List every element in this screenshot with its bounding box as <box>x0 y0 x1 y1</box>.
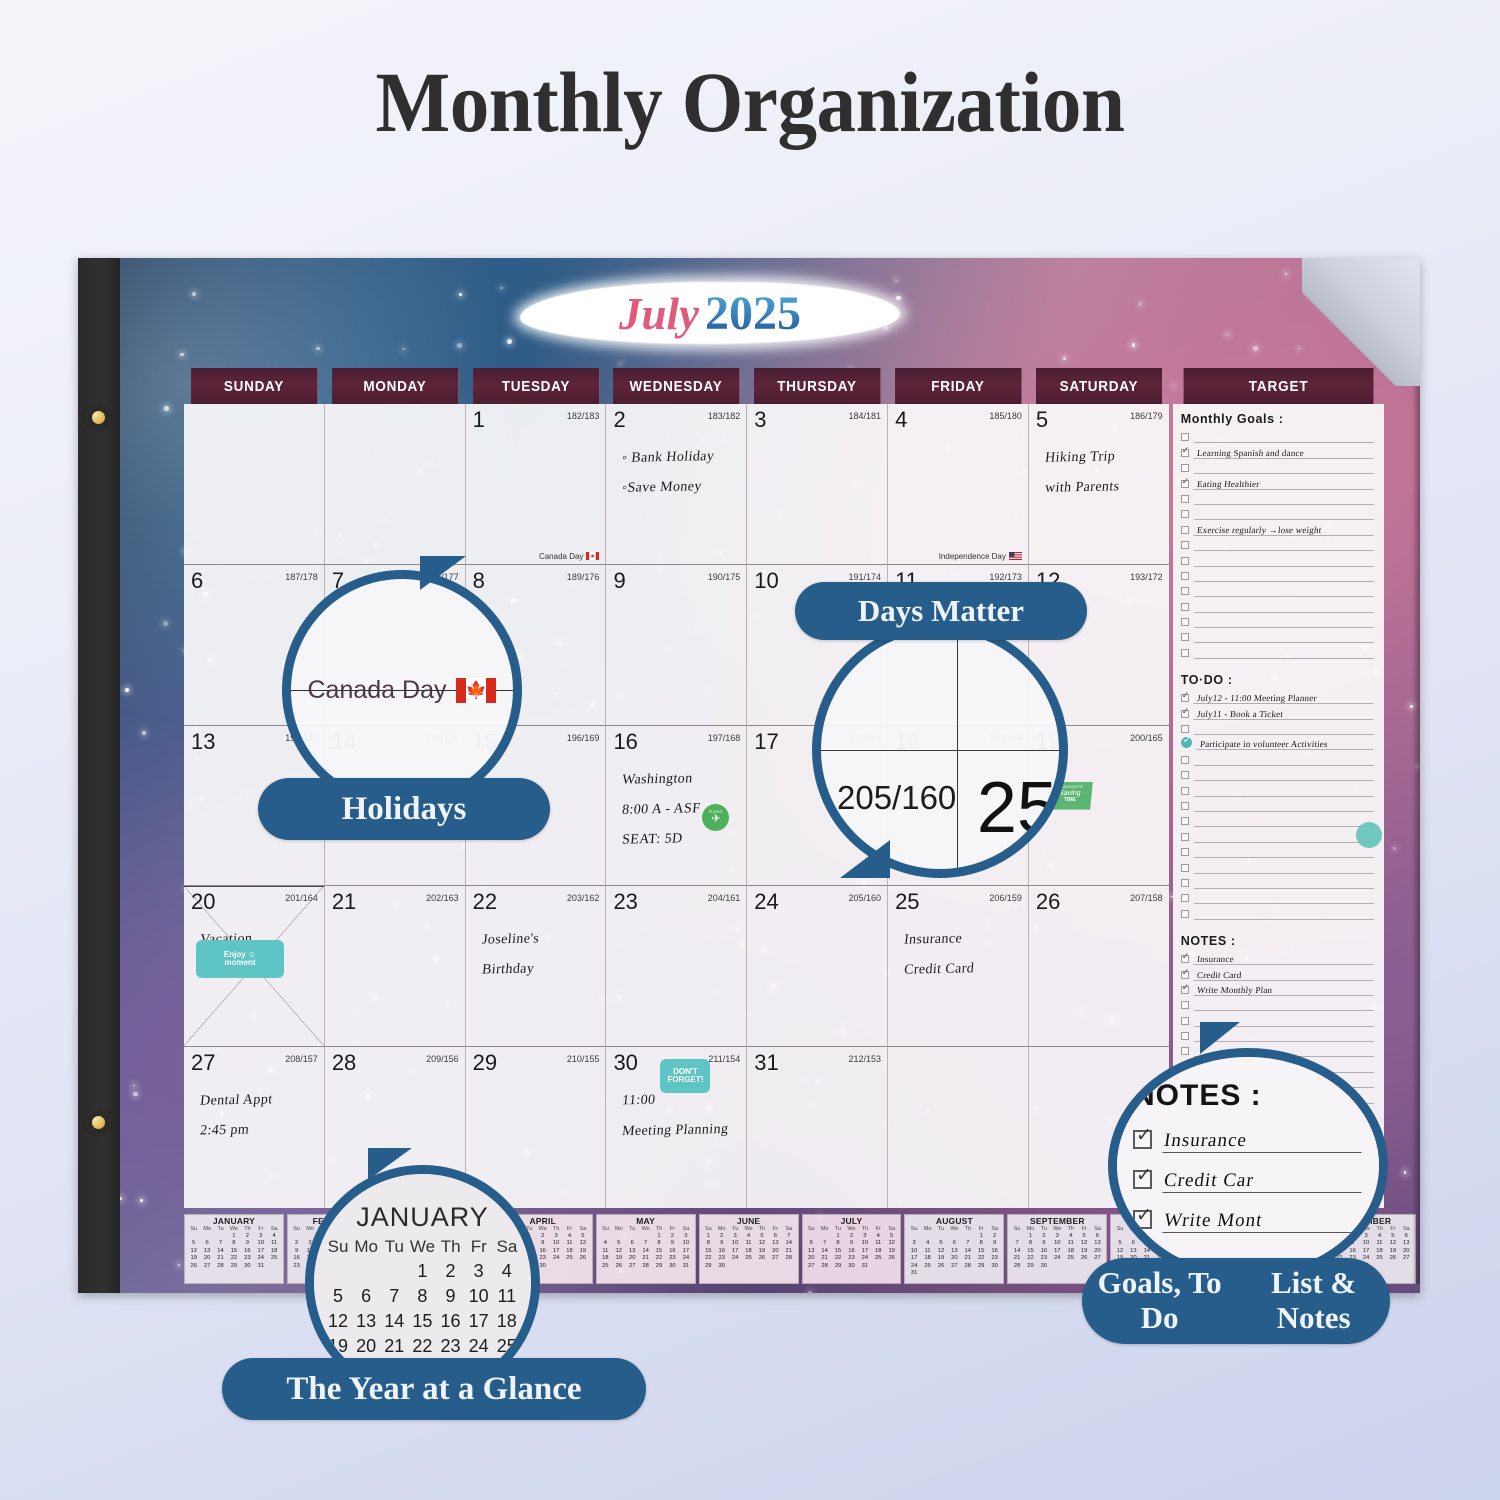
curl-shadow <box>1412 384 1420 1284</box>
zoomed-month-name: JANUARY <box>314 1174 531 1233</box>
todo-row[interactable] <box>1181 827 1374 842</box>
mini-calendar-title: MAY <box>599 1216 693 1226</box>
day-number: 29 <box>473 1050 497 1076</box>
zoomed-day-cell: 13 <box>352 1309 380 1334</box>
todo-row[interactable] <box>1181 889 1374 904</box>
spacer <box>1181 920 1374 934</box>
goals-notes-callout-content: NOTES : InsuranceCredit CarWrite Mont <box>1117 1057 1379 1274</box>
week-row: 20201/164VacationEnjoy ☺moment21202/1632… <box>184 886 1169 1047</box>
day-cell-empty[interactable] <box>888 1047 1029 1208</box>
zoomed-day-cell: 5 <box>324 1284 352 1309</box>
todo-text[interactable] <box>1194 811 1374 812</box>
goal-text[interactable] <box>1194 612 1374 613</box>
day-cell-9[interactable]: 9190/175 <box>606 565 747 726</box>
handwritten-note: SEAT: 5D <box>622 831 684 848</box>
mini-calendar-june[interactable]: JUNESuMoTuWeThFrSa1234567891011121314151… <box>699 1214 799 1284</box>
day-count-ratio: 205/160 <box>849 893 882 903</box>
usa-flag-icon <box>1009 552 1022 560</box>
days-matter-pill-label: Days Matter <box>795 582 1087 640</box>
calendar-masthead: July2025 <box>120 258 1420 368</box>
zoomed-note-row: Insurance <box>1133 1119 1363 1153</box>
zoomed-notes-title: NOTES : <box>1133 1079 1363 1113</box>
handwritten-note: Hiking Trip <box>1044 449 1116 467</box>
weekday-header-saturday: SATURDAY <box>1036 368 1162 404</box>
day-number: 25 <box>895 889 919 915</box>
todo-checkbox[interactable] <box>1181 864 1189 872</box>
zoomed-dow-cell: Sa <box>493 1237 521 1257</box>
goal-row[interactable] <box>1181 490 1374 505</box>
goal-text[interactable]: Learning Spanish and dance <box>1193 448 1374 459</box>
todo-row[interactable] <box>1181 766 1374 781</box>
weekday-header-monday: MONDAY <box>332 368 459 404</box>
day-count-ratio: 209/156 <box>426 1054 459 1064</box>
day-number: 13 <box>191 729 215 755</box>
goal-row[interactable] <box>1181 536 1374 551</box>
zoomed-note-text: Credit Car <box>1162 1170 1364 1193</box>
todo-checkbox[interactable] <box>1181 802 1189 810</box>
mini-calendar-days: 1234567891011121314151617181920212223242… <box>907 1233 1001 1277</box>
flight-sticker: FLIGHT✈ <box>702 804 729 831</box>
weekday-header-friday: FRIDAY <box>895 368 1022 404</box>
handwritten-note: Dental Appt <box>199 1092 273 1110</box>
handwritten-note: 8:00 A - ASF <box>622 801 702 819</box>
zoomed-day-cell: 11 <box>493 1284 521 1309</box>
day-cell-5[interactable]: 5186/179Hiking Tripwith Parents <box>1029 404 1169 565</box>
zoomed-day-cell: 16 <box>437 1309 465 1334</box>
todo-row[interactable]: July11 - Book a Ticket <box>1181 704 1374 719</box>
binder-strip <box>78 258 120 1293</box>
day-count-ratio: 185/180 <box>989 411 1022 421</box>
day-count-ratio: 186/179 <box>1130 411 1163 421</box>
day-count-ratio: 204/161 <box>708 893 741 903</box>
goal-checkbox[interactable] <box>1181 541 1189 549</box>
canada-flag-icon <box>586 552 599 560</box>
year-number: 2025 <box>705 287 801 340</box>
todo-checkbox[interactable] <box>1181 817 1189 825</box>
todo-row[interactable] <box>1181 843 1374 858</box>
note-row[interactable]: Write Monthly Plan <box>1181 981 1374 996</box>
mini-calendar-dow: SuMoTuWeThFrSa <box>805 1226 899 1233</box>
goal-text[interactable] <box>1194 658 1374 659</box>
spacer <box>1181 659 1374 673</box>
zoomed-note-checkbox <box>1133 1210 1152 1229</box>
goal-text[interactable]: Eating Healthier <box>1193 479 1374 490</box>
day-cell-26[interactable]: 26207/158 <box>1029 886 1169 1047</box>
zoomed-day-cell: 15 <box>408 1309 436 1334</box>
day-number: 22 <box>473 889 497 915</box>
goal-checkbox[interactable] <box>1181 480 1189 488</box>
day-number: 3 <box>754 407 766 433</box>
day-cell-1[interactable]: 1182/183Canada Day <box>466 404 607 565</box>
day-count-ratio: 182/183 <box>567 411 600 421</box>
day-number: 31 <box>754 1050 778 1076</box>
pill-line: Goals, To Do <box>1082 1266 1237 1335</box>
handwritten-note: Washington <box>622 771 694 789</box>
zoomed-dow-cell: Th <box>437 1237 465 1257</box>
handwritten-note: Joseline's <box>481 932 540 949</box>
zoomed-day-cell: 25 <box>493 1334 521 1359</box>
todo-row[interactable] <box>1181 904 1374 919</box>
week-row: 1182/183Canada Day2183/182◦ Bank Holiday… <box>184 404 1169 565</box>
day-number: 23 <box>613 889 637 915</box>
todo-text[interactable]: July11 - Book a Ticket <box>1193 709 1374 720</box>
todo-checkbox[interactable] <box>1181 910 1189 918</box>
goals-notes-callout: NOTES : InsuranceCredit CarWrite Mont <box>1108 1048 1388 1283</box>
mini-calendar-july[interactable]: JULYSuMoTuWeThFrSa 123456789101112131415… <box>802 1214 902 1284</box>
day-number: 2 <box>613 407 625 433</box>
todo-checkbox[interactable] <box>1181 694 1189 702</box>
goal-row[interactable] <box>1181 582 1374 597</box>
goals-notes-pill-label: Goals, To DoList & Notes <box>1082 1258 1390 1344</box>
todo-title: TO·DO : <box>1181 673 1374 687</box>
note-checkbox[interactable] <box>1181 1001 1189 1009</box>
day-count-ratio: 193/172 <box>1130 572 1163 582</box>
day-count-ratio: 191/174 <box>849 572 882 582</box>
mini-calendar-days: 1234567891011121314151617181920212223242… <box>702 1233 796 1270</box>
goal-text[interactable] <box>1194 581 1374 582</box>
day-number: 4 <box>895 407 907 433</box>
enjoy-moment-sticker: Enjoy ☺moment <box>196 940 284 978</box>
todo-row[interactable] <box>1181 797 1374 812</box>
day-cell-empty[interactable] <box>325 404 466 565</box>
goal-row[interactable] <box>1181 551 1374 566</box>
day-cell-16[interactable]: 16197/168Washington8:00 A - ASFSEAT: 5DF… <box>606 726 747 887</box>
weekday-header-thursday: THURSDAY <box>754 368 881 404</box>
mini-calendar-days: 1234567891011121314151617181920212223242… <box>805 1233 899 1270</box>
zoomed-day-cell: 8 <box>408 1284 436 1309</box>
zoomed-day-cell: 14 <box>380 1309 408 1334</box>
year-glance-pill-label: The Year at a Glance <box>222 1358 646 1420</box>
day-number: 9 <box>613 568 625 594</box>
todo-row[interactable] <box>1181 812 1374 827</box>
day-cell-3[interactable]: 3184/181 <box>747 404 888 565</box>
mini-calendar-title: AUGUST <box>907 1216 1001 1226</box>
handwritten-note: Birthday <box>481 962 535 979</box>
mini-calendar-dow: SuMoTuWeThFrSa <box>907 1226 1001 1233</box>
todo-checkbox[interactable] <box>1181 833 1189 841</box>
goal-row[interactable] <box>1181 505 1374 520</box>
zoomed-note-checkbox <box>1133 1130 1152 1149</box>
day-cell-21[interactable]: 21202/163 <box>325 886 466 1047</box>
day-cell-4[interactable]: 4185/180Independence Day <box>888 404 1029 565</box>
day-count-ratio: 196/169 <box>567 733 600 743</box>
todo-text[interactable] <box>1194 842 1374 843</box>
weekday-header-tuesday: TUESDAY <box>473 368 600 404</box>
zoomed-day-cell: 12 <box>324 1309 352 1334</box>
goal-checkbox[interactable] <box>1181 572 1189 580</box>
day-count-ratio: 192/173 <box>989 572 1022 582</box>
holidays-callout: Canada Day 🍁 <box>282 570 522 810</box>
weekday-header-wednesday: WEDNESDAY <box>613 368 740 404</box>
month-year-title: July2025 <box>520 286 900 341</box>
zoomed-day-cell: 20 <box>352 1334 380 1359</box>
zoomed-day-cell: 3 <box>465 1259 493 1284</box>
todo-row[interactable] <box>1181 720 1374 735</box>
goal-text[interactable]: Exercise regularly →lose weight <box>1193 525 1374 536</box>
day-number: 27 <box>191 1050 215 1076</box>
todo-text[interactable]: July12 - 11:00 Meeting Planner <box>1193 693 1374 704</box>
day-count-ratio: 190/175 <box>708 572 741 582</box>
mini-calendar-days: 1234567891011121314151617181920212223242… <box>599 1233 693 1270</box>
day-count-ratio: 208/157 <box>285 1054 318 1064</box>
handwritten-note: Credit Card <box>903 962 975 980</box>
day-count-ratio: 206/159 <box>989 893 1022 903</box>
day-number: 16 <box>613 729 637 755</box>
goal-text[interactable] <box>1194 627 1374 628</box>
handwritten-note: Insurance <box>903 932 963 949</box>
day-cell-27[interactable]: 27208/157Dental Appt2:45 pm <box>184 1047 325 1208</box>
day-count-ratio: 200/165 <box>1130 733 1163 743</box>
day-count-ratio: 197/168 <box>708 733 741 743</box>
zoomed-day-cell: 18 <box>493 1309 521 1334</box>
day-count-ratio: 211/154 <box>708 1054 740 1064</box>
zoomed-day-cell: 19 <box>324 1334 352 1359</box>
todo-checkbox[interactable] <box>1181 894 1189 902</box>
goal-row[interactable] <box>1181 613 1374 628</box>
month-name: July <box>619 289 699 339</box>
day-number: 21 <box>332 889 356 915</box>
canada-flag-icon: 🍁 <box>456 678 496 703</box>
handwritten-note: ◦Save Money <box>622 479 703 497</box>
goal-checkbox[interactable] <box>1181 510 1189 518</box>
grommet-bottom-icon <box>86 1110 111 1135</box>
note-text[interactable]: Insurance <box>1193 954 1374 965</box>
goal-checkbox[interactable] <box>1181 649 1189 657</box>
day-number: 26 <box>1036 889 1060 915</box>
year-glance-pointer <box>368 1148 412 1180</box>
days-matter-callout-content: 205/160 25 <box>821 631 1059 869</box>
goal-checkbox[interactable] <box>1181 449 1189 457</box>
teal-round-sticker <box>1356 822 1382 848</box>
mini-calendar-days: 1234567891011121314151617181920212223242… <box>1010 1233 1104 1270</box>
goal-row[interactable]: Learning Spanish and dance <box>1181 443 1374 458</box>
day-count-ratio: 184/181 <box>849 411 882 421</box>
zoomed-day-cell: 7 <box>380 1284 408 1309</box>
mini-calendar-title: JUNE <box>702 1216 796 1226</box>
todo-row[interactable] <box>1181 750 1374 765</box>
day-count-ratio: 183/182 <box>708 411 741 421</box>
day-number: 6 <box>191 568 203 594</box>
todo-row[interactable] <box>1181 781 1374 796</box>
days-remaining-ratio: 205/160 <box>837 779 956 817</box>
mini-calendar-dow: SuMoTuWeThFrSa <box>187 1226 281 1233</box>
day-count-ratio: 212/153 <box>849 1054 882 1064</box>
day-number: 17 <box>754 729 778 755</box>
zoomed-note-row: Write Mont <box>1133 1199 1363 1233</box>
handwritten-note: 2:45 pm <box>199 1123 250 1140</box>
zoomed-day-blank <box>380 1259 408 1284</box>
handwritten-note: Meeting Planning <box>622 1122 730 1140</box>
note-checkbox[interactable] <box>1181 955 1189 963</box>
goal-checkbox[interactable] <box>1181 603 1189 611</box>
todo-row[interactable]: Participate in volunteer Activities <box>1181 735 1374 750</box>
goal-row[interactable] <box>1181 628 1374 643</box>
handwritten-note: ◦ Bank Holiday <box>622 449 716 467</box>
day-cell-30[interactable]: 30211/15411:00Meeting PlanningDON'TFORGE… <box>606 1047 747 1208</box>
zoomed-dow-cell: We <box>408 1237 436 1257</box>
callout-horizontal-divider <box>821 750 1059 751</box>
todo-checkbox[interactable] <box>1181 787 1189 795</box>
holiday-label: Canada Day <box>539 552 599 561</box>
day-count-ratio: 203/162 <box>567 893 600 903</box>
goal-checkbox[interactable] <box>1181 433 1189 441</box>
goal-row[interactable] <box>1181 428 1374 443</box>
todo-text[interactable] <box>1194 765 1374 766</box>
mini-calendar-may[interactable]: MAYSuMoTuWeThFrSa 1234567891011121314151… <box>596 1214 696 1284</box>
page-title: Monthly Organization <box>60 52 1440 152</box>
holiday-label: Independence Day <box>939 552 1022 561</box>
zoomed-day-cell: 4 <box>493 1259 521 1284</box>
zoomed-day-cell: 22 <box>408 1334 436 1359</box>
zoomed-day-blank <box>352 1259 380 1284</box>
holidays-pointer <box>420 556 466 590</box>
note-checkbox[interactable] <box>1181 971 1189 979</box>
day-number: 20 <box>191 889 215 915</box>
note-text[interactable]: Write Monthly Plan <box>1193 985 1374 996</box>
zoomed-day-number: 25 <box>977 767 1057 849</box>
todo-text[interactable] <box>1194 734 1374 735</box>
zoomed-day-cell: 17 <box>465 1309 493 1334</box>
zoomed-dow-cell: Tu <box>380 1237 408 1257</box>
holidays-pill-label: Holidays <box>258 778 550 840</box>
goal-text[interactable] <box>1194 566 1374 567</box>
goal-row[interactable] <box>1181 459 1374 474</box>
note-checkbox[interactable] <box>1181 1017 1189 1025</box>
goal-text[interactable] <box>1194 550 1374 551</box>
zoomed-note-row: Credit Car <box>1133 1159 1363 1193</box>
zoomed-day-cell: 10 <box>465 1284 493 1309</box>
dont-forget-sticker: DON'TFORGET! <box>660 1059 710 1093</box>
todo-row[interactable] <box>1181 858 1374 873</box>
todo-checkbox[interactable] <box>1181 737 1192 748</box>
pill-line: List & Notes <box>1237 1266 1390 1335</box>
todo-checkbox[interactable] <box>1181 725 1189 733</box>
todo-text[interactable] <box>1194 919 1374 920</box>
zoomed-day-cell: 6 <box>352 1284 380 1309</box>
zoomed-note-text: Insurance <box>1162 1130 1364 1153</box>
todo-checkbox[interactable] <box>1181 756 1189 764</box>
day-count-ratio: 201/164 <box>285 893 318 903</box>
todo-checkbox[interactable] <box>1181 771 1189 779</box>
todo-list[interactable]: July12 - 11:00 Meeting PlannerJuly11 - B… <box>1181 689 1374 920</box>
goal-checkbox[interactable] <box>1181 587 1189 595</box>
goal-checkbox[interactable] <box>1181 633 1189 641</box>
mini-calendar-days: 1234567891011121314151617181920212223242… <box>187 1233 281 1270</box>
zoomed-note-text: Write Mont <box>1162 1210 1364 1233</box>
day-cell-20[interactable]: 20201/164VacationEnjoy ☺moment <box>184 886 325 1047</box>
zoomed-dow-cell: Fr <box>465 1237 493 1257</box>
goal-checkbox[interactable] <box>1181 557 1189 565</box>
day-number: 24 <box>754 889 778 915</box>
zoomed-day-cell: 2 <box>437 1259 465 1284</box>
mini-calendar-dow: SuMoTuWeThFrSa <box>702 1226 796 1233</box>
day-cell-2[interactable]: 2183/182◦ Bank Holiday◦Save Money <box>606 404 747 565</box>
day-cell-empty[interactable] <box>184 404 325 565</box>
day-cell-24[interactable]: 24205/160 <box>747 886 888 1047</box>
todo-checkbox[interactable] <box>1181 848 1189 856</box>
goal-row[interactable] <box>1181 597 1374 612</box>
goal-text[interactable] <box>1194 504 1374 505</box>
day-count-ratio: 210/155 <box>567 1054 600 1064</box>
zoomed-note-checkbox <box>1133 1170 1152 1189</box>
day-count-ratio: 189/176 <box>567 572 600 582</box>
holidays-callout-content: Canada Day 🍁 <box>291 579 513 801</box>
zoomed-day-cell: 21 <box>380 1334 408 1359</box>
day-cell-31[interactable]: 31212/153 <box>747 1047 888 1208</box>
day-number: 1 <box>473 407 485 433</box>
goal-row[interactable] <box>1181 567 1374 582</box>
grommet-top-icon <box>86 405 111 430</box>
goal-checkbox[interactable] <box>1181 495 1189 503</box>
weekday-header-row: SUNDAYMONDAYTUESDAYWEDNESDAYTHURSDAYFRID… <box>184 368 1169 404</box>
day-cell-23[interactable]: 23204/161 <box>606 886 747 1047</box>
note-row[interactable]: Insurance <box>1181 950 1374 965</box>
mini-calendar-january[interactable]: JANUARYSuMoTuWeThFrSa 123456789101112131… <box>184 1214 284 1284</box>
zoomed-dow-cell: Mo <box>352 1237 380 1257</box>
day-cell-22[interactable]: 22203/162Joseline'sBirthday <box>466 886 607 1047</box>
notes-title: NOTES : <box>1181 934 1374 948</box>
note-text[interactable]: Credit Card <box>1193 970 1374 981</box>
mini-calendar-august[interactable]: AUGUSTSuMoTuWeThFrSa 1234567891011121314… <box>904 1214 1004 1284</box>
note-checkbox[interactable] <box>1181 1047 1189 1055</box>
todo-checkbox[interactable] <box>1181 710 1189 718</box>
goal-checkbox[interactable] <box>1181 464 1189 472</box>
goal-row[interactable]: Eating Healthier <box>1181 474 1374 489</box>
zoomed-day-cell: 1 <box>408 1259 436 1284</box>
note-checkbox[interactable] <box>1181 1032 1189 1040</box>
zoomed-day-cell: 9 <box>437 1284 465 1309</box>
zoomed-day-cell: 23 <box>437 1334 465 1359</box>
todo-text[interactable] <box>1194 888 1374 889</box>
weekday-header-sunday: SUNDAY <box>191 368 318 404</box>
todo-row[interactable]: July12 - 11:00 Meeting Planner <box>1181 689 1374 704</box>
zoomed-dow-row: SuMoTuWeThFrSa <box>314 1233 531 1257</box>
goals-list[interactable]: Learning Spanish and danceEating Healthi… <box>1181 428 1374 659</box>
note-row[interactable] <box>1181 996 1374 1011</box>
mini-calendar-title: JULY <box>805 1216 899 1226</box>
zoomed-day-blank <box>324 1259 352 1284</box>
day-cell-25[interactable]: 25206/159InsuranceCredit Card <box>888 886 1029 1047</box>
mini-calendar-title: JANUARY <box>187 1216 281 1226</box>
zoomed-notes-list: InsuranceCredit CarWrite Mont <box>1133 1119 1363 1233</box>
todo-text[interactable] <box>1194 873 1374 874</box>
day-count-ratio: 202/163 <box>426 893 459 903</box>
handwritten-note: 11:00 <box>622 1093 657 1110</box>
todo-row[interactable] <box>1181 874 1374 889</box>
mini-calendar-dow: SuMoTuWeThFrSa <box>1010 1226 1104 1233</box>
page-curl-edge <box>1302 258 1420 386</box>
handwritten-note: with Parents <box>1044 479 1120 497</box>
goal-row[interactable]: Exercise regularly →lose weight <box>1181 520 1374 535</box>
canada-day-label: Canada Day <box>308 676 447 705</box>
note-checkbox[interactable] <box>1181 986 1189 994</box>
goals-title: Monthly Goals : <box>1181 412 1374 426</box>
todo-text[interactable] <box>1194 796 1374 797</box>
zoomed-dow-cell: Su <box>324 1237 352 1257</box>
days-matter-pointer <box>840 840 890 878</box>
todo-text[interactable]: Participate in volunteer Activities <box>1196 739 1374 750</box>
zoomed-day-cell: 24 <box>465 1334 493 1359</box>
goal-checkbox[interactable] <box>1181 526 1189 534</box>
note-row[interactable]: Credit Card <box>1181 965 1374 980</box>
goals-notes-pointer <box>1200 1022 1240 1054</box>
day-count-ratio: 207/158 <box>1130 893 1163 903</box>
todo-checkbox[interactable] <box>1181 879 1189 887</box>
mini-calendar-title: SEPTEMBER <box>1010 1216 1104 1226</box>
mini-calendar-dow: SuMoTuWeThFrSa <box>599 1226 693 1233</box>
goal-row[interactable] <box>1181 643 1374 658</box>
goal-checkbox[interactable] <box>1181 618 1189 626</box>
